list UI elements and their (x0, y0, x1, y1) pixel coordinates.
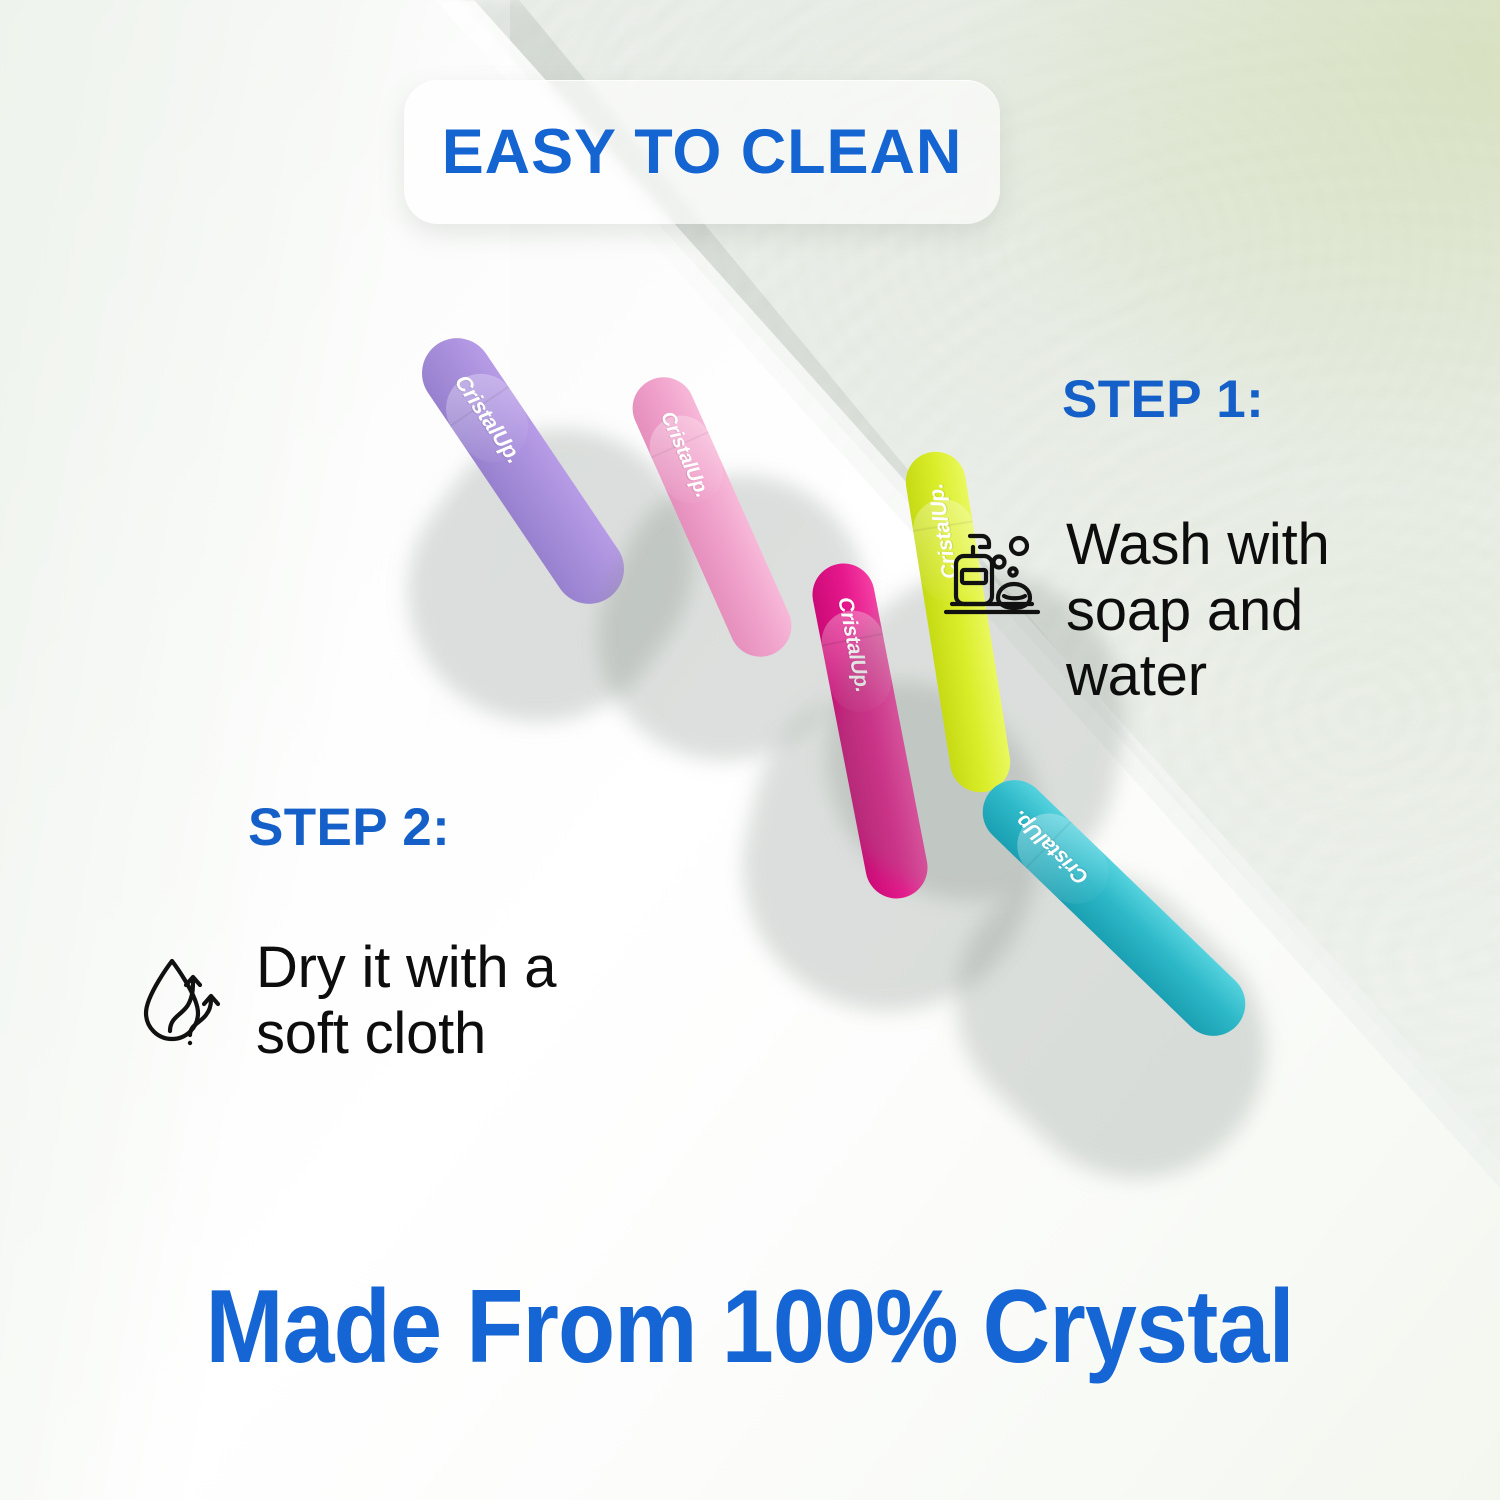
step-2-text: Dry it with a soft cloth (256, 935, 658, 1066)
infographic-canvas: EASY TO CLEAN CristalUp. CristalUp. Cris… (0, 0, 1500, 1500)
step-1-title: STEP 1: (1062, 369, 1264, 430)
water-drop-dry-icon (138, 951, 234, 1051)
step-2-title: STEP 2: (248, 797, 450, 858)
footer-headline: Made From 100% Crystal (206, 1268, 1294, 1387)
footer-headline-wrap: Made From 100% Crystal (0, 1268, 1500, 1387)
step-1-block: Wash with soap and water (940, 512, 1400, 709)
badge-label: EASY TO CLEAN (442, 116, 962, 188)
easy-to-clean-badge: EASY TO CLEAN (404, 80, 1000, 224)
step-2-block: Dry it with a soft cloth (138, 935, 658, 1066)
step-1-text: Wash with soap and water (1066, 512, 1400, 709)
soap-dispenser-icon (940, 528, 1044, 624)
